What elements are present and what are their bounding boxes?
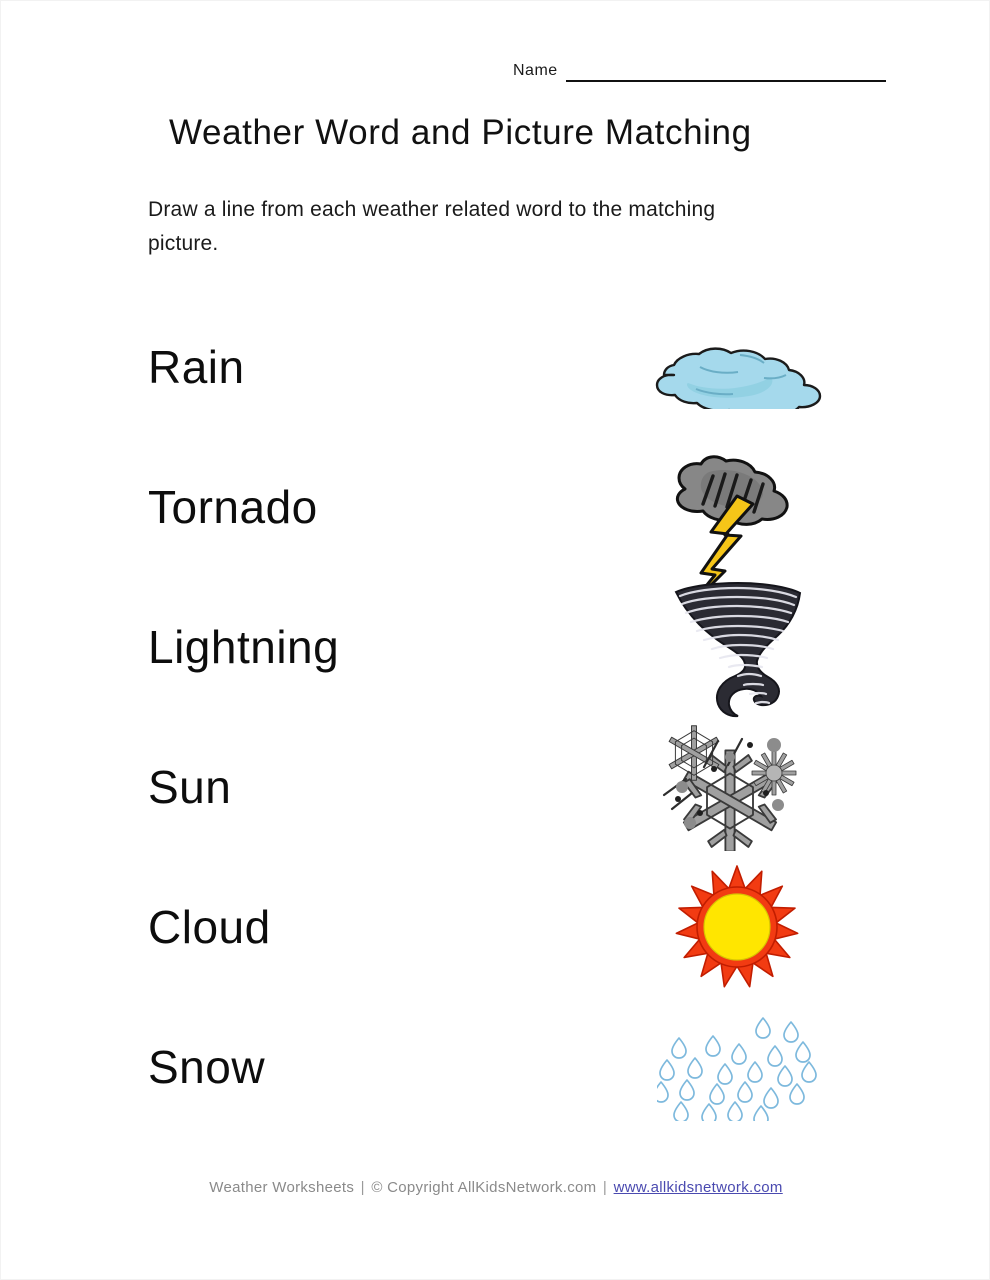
match-row: Snow (1, 997, 990, 1137)
snowflakes-icon (656, 723, 818, 851)
matching-area: Rain Tornado (1, 297, 990, 1137)
word-item-sun[interactable]: Sun (148, 764, 231, 810)
raindrops-icon (657, 1013, 817, 1121)
name-label: Name (513, 63, 558, 82)
footer-separator-1: | (359, 1179, 367, 1196)
cloud-icon (644, 325, 830, 409)
word-item-cloud[interactable]: Cloud (148, 904, 271, 950)
word-item-lightning[interactable]: Lightning (148, 624, 339, 670)
match-row: Lightning (1, 577, 990, 717)
picture-item-sun[interactable] (637, 857, 837, 997)
match-row: Sun (1, 717, 990, 857)
picture-item-rain[interactable] (637, 997, 837, 1137)
footer-url-link[interactable]: www.allkidsnetwork.com (614, 1179, 783, 1196)
instructions-text: Draw a line from each weather related wo… (148, 193, 788, 261)
tornado-icon (662, 576, 812, 718)
name-write-line[interactable] (566, 80, 886, 82)
footer: Weather Worksheets | © Copyright AllKids… (1, 1179, 990, 1196)
page-title: Weather Word and Picture Matching (169, 113, 752, 153)
sun-icon (673, 863, 801, 991)
match-row: Rain (1, 297, 990, 437)
picture-item-cloud[interactable] (637, 297, 837, 437)
word-item-tornado[interactable]: Tornado (148, 484, 318, 530)
lightning-storm-cloud-icon (651, 428, 823, 586)
footer-site: Weather Worksheets (209, 1179, 354, 1196)
picture-item-tornado[interactable] (637, 577, 837, 717)
footer-copyright: © Copyright AllKidsNetwork.com (371, 1179, 596, 1196)
picture-item-snow[interactable] (637, 717, 837, 857)
picture-item-lightning[interactable] (637, 437, 837, 577)
word-item-snow[interactable]: Snow (148, 1044, 265, 1090)
footer-separator-2: | (601, 1179, 609, 1196)
sun-rays-group (675, 866, 798, 989)
name-field-row: Name (513, 63, 886, 82)
word-item-rain[interactable]: Rain (148, 344, 245, 390)
match-row: Cloud (1, 857, 990, 997)
worksheet-page: Name Weather Word and Picture Matching D… (0, 0, 990, 1280)
match-row: Tornado (1, 437, 990, 577)
